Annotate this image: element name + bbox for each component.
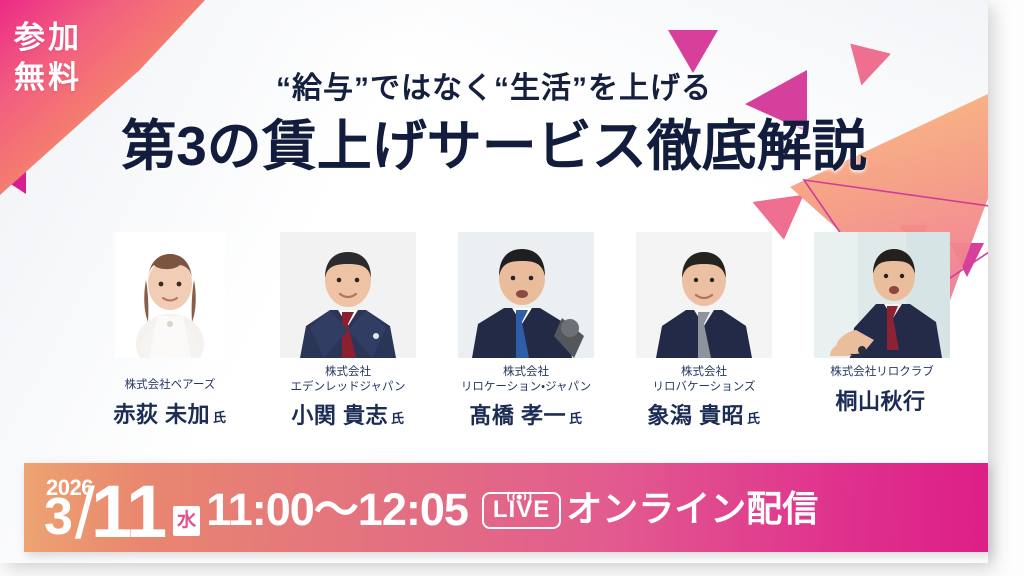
speaker-org: 株式会社 リロバケーションズ (652, 365, 755, 394)
delivery-label: オンライン配信 (566, 480, 818, 532)
speaker-name: 赤荻 未加氏 (113, 397, 226, 429)
headline-block: “給与”ではなく“生活”を上げる 第3の賃上げサービス徹底解説 (0, 72, 988, 176)
speaker-card: 株式会社リロクラブ 桐山秋行 (798, 232, 966, 416)
speaker-org: 株式会社 リロケーション・ジャパン (461, 365, 591, 394)
speaker-name: 髙橋 孝一氏 (469, 398, 582, 430)
banner-title: 第3の賃上げサービス徹底解説 (0, 117, 988, 176)
event-date: 2026 3 / 11 水 (42, 473, 206, 542)
event-time: 11:00〜12:05 (206, 473, 468, 538)
speaker-photo-kiriyama (814, 232, 950, 358)
speaker-card: 株式会社ベアーズ 赤荻 未加氏 (86, 232, 254, 429)
event-day-of-week: 水 (173, 506, 200, 536)
webinar-banner: 参加 無料 “給与”ではなく“生活”を上げる 第3の賃上げサービス徹底解説 (0, 0, 1024, 576)
speaker-list: 株式会社ベアーズ 赤荻 未加氏 (86, 232, 966, 447)
speaker-name-text: 桐山秋行 (835, 389, 925, 414)
speaker-name-text: 髙橋 孝一 (469, 403, 566, 428)
live-badge: LIVE (482, 492, 561, 529)
banner-subtitle: “給与”ではなく“生活”を上げる (0, 72, 988, 105)
speaker-name: 象潟 貴昭氏 (647, 398, 760, 430)
speaker-name-text: 小関 貴志 (291, 403, 388, 428)
speaker-name-suffix: 氏 (391, 411, 405, 426)
speaker-name-suffix: 氏 (213, 410, 227, 425)
speaker-org: 株式会社 エデンレッドジャパン (291, 365, 406, 394)
event-day: 11 (91, 482, 165, 543)
speaker-name-text: 赤荻 未加 (113, 402, 210, 427)
speaker-name-text: 象潟 貴昭 (647, 403, 744, 428)
decor-triangle-magenta-1 (668, 30, 718, 73)
speaker-photo-takahashi (458, 232, 594, 358)
speaker-name: 桐山秋行 (835, 384, 928, 416)
date-separator: / (75, 485, 95, 544)
speaker-photo-akaogi (115, 232, 225, 358)
speaker-photo-kisakata (636, 232, 772, 358)
speaker-photo-ozeki (280, 232, 416, 358)
speaker-name-suffix: 氏 (747, 411, 761, 426)
speaker-card: 株式会社 エデンレッドジャパン 小関 貴志氏 (264, 232, 432, 430)
speaker-name-suffix: 氏 (569, 411, 583, 426)
free-entry-ribbon-text: 参加 無料 (14, 18, 82, 99)
schedule-bar: 2026 3 / 11 水 11:00〜12:05 LIVE オンライン配信 (24, 463, 988, 552)
speaker-org: 株式会社リロクラブ (830, 365, 934, 380)
speaker-card: 株式会社 リロバケーションズ 象潟 貴昭氏 (620, 232, 788, 430)
ribbon-line-1: 参加 (14, 18, 82, 58)
speaker-org: 株式会社ベアーズ (125, 378, 216, 393)
speaker-card: 株式会社 リロケーション・ジャパン 髙橋 孝一氏 (442, 232, 610, 430)
broadcast-wave-icon (502, 481, 536, 509)
speaker-name: 小関 貴志氏 (291, 398, 404, 430)
ribbon-line-2: 無料 (14, 58, 82, 98)
